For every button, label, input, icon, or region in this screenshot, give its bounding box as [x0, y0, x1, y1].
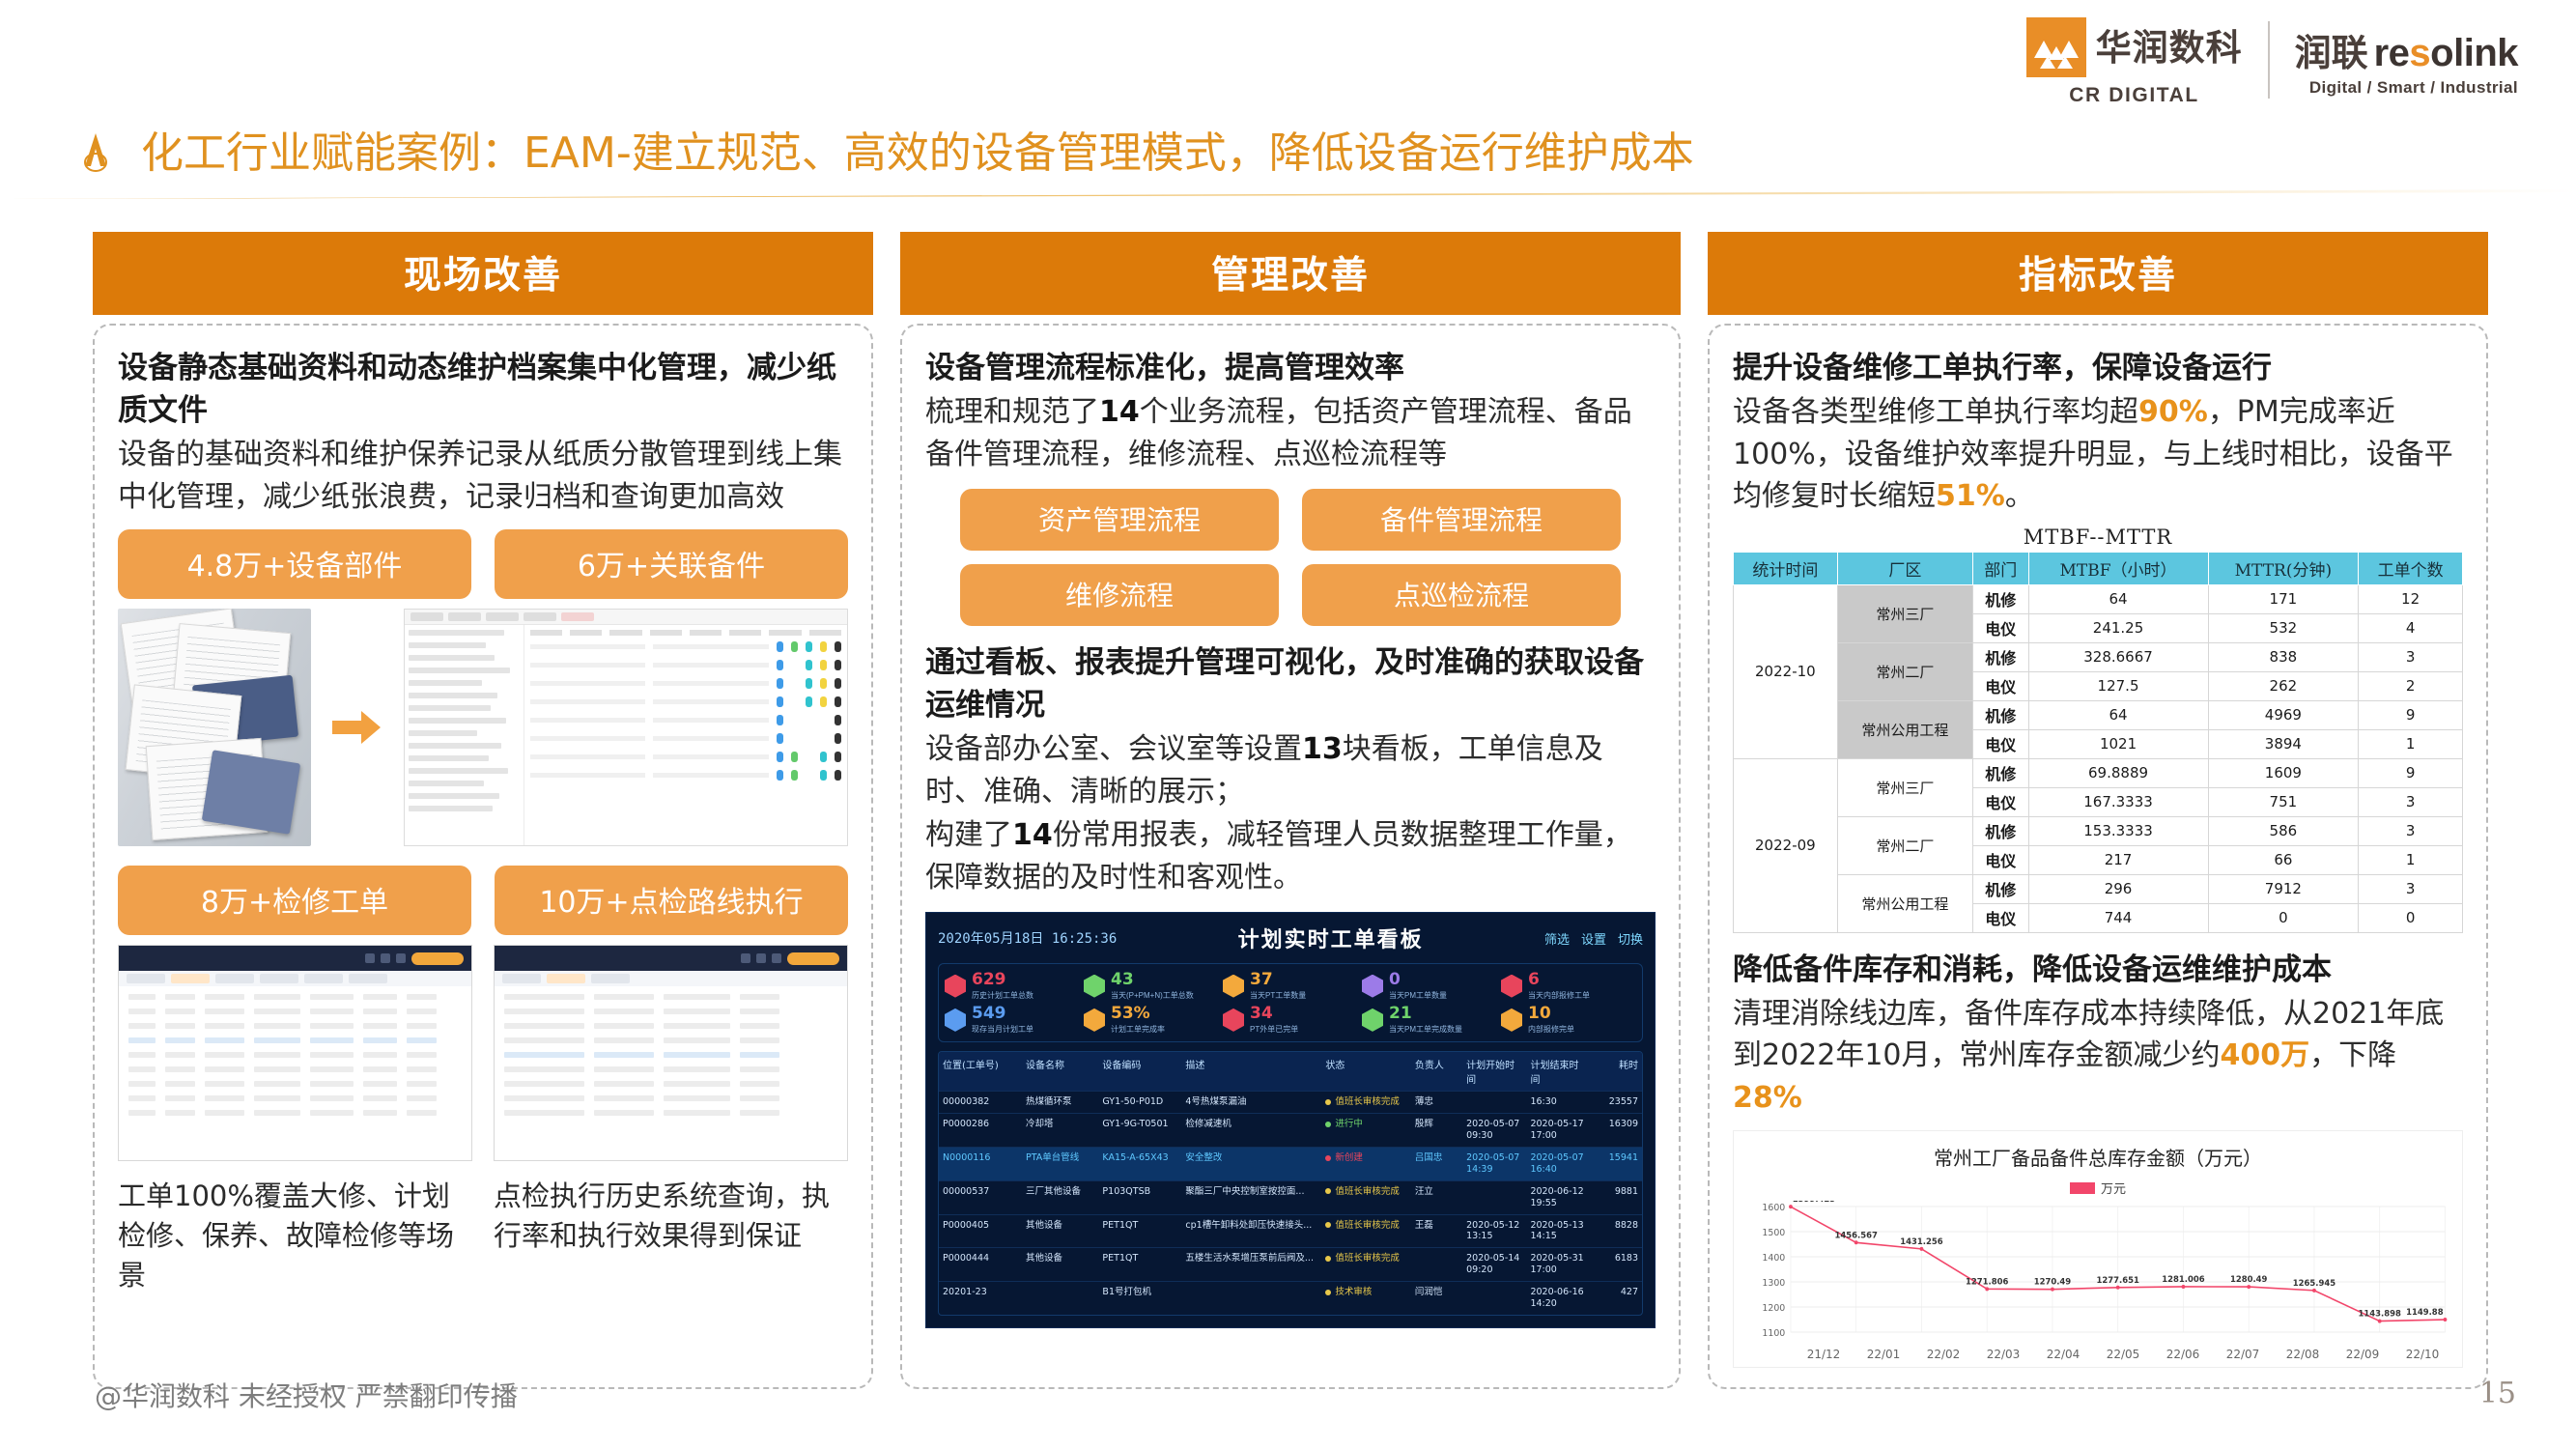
cell-mtbf: 64: [2028, 584, 2208, 613]
badge-related-spares: 6万+关联备件: [495, 529, 848, 599]
cell-mtbf: 241.25: [2028, 613, 2208, 642]
cell-device-code: B1号打包机: [1098, 1282, 1181, 1315]
cell-start-time: [1462, 1181, 1526, 1214]
cell-mtbf: 217: [2028, 845, 2208, 874]
dashboard-datetime: 2020年05月18日 16:25:36: [938, 928, 1117, 948]
dashboard-table-row[interactable]: P0000444其他设备PET1QT五楼生活水泵增压泵前后阀及...值班长审核完…: [939, 1247, 1642, 1281]
svg-text:1271.806: 1271.806: [1966, 1277, 2008, 1287]
cell-device-name: 冷却塔: [1022, 1114, 1098, 1147]
column3-heading2: 降低备件库存和消耗，降低设备运维维护成本: [1733, 949, 2463, 991]
cell-department: 电仪: [1972, 729, 2028, 758]
cell-mttr: 7912: [2208, 874, 2359, 903]
dashboard-topbar: 2020年05月18日 16:25:36 计划实时工单看板 筛选 设置 切换: [938, 923, 1643, 953]
cell-department: 机修: [1972, 758, 2028, 787]
cell-plant: 常州公用工程: [1837, 874, 1972, 932]
cell-department: 机修: [1972, 584, 2028, 613]
status-dot-icon: [1325, 1256, 1331, 1262]
cell-status: 值班长审核完成: [1321, 1181, 1411, 1214]
cell-mttr: 66: [2208, 845, 2359, 874]
svg-text:1281.006: 1281.006: [2162, 1275, 2204, 1285]
column3-body2: 清理消除线边库，备件库存成本持续降低，从2021年底到2022年10月，常州库存…: [1733, 993, 2463, 1120]
status-dot-icon: [1325, 1155, 1331, 1161]
kpi-hex-icon: [1084, 1009, 1105, 1032]
kpi-hex-icon: [1084, 975, 1105, 998]
cell-mttr: 3894: [2208, 729, 2359, 758]
kpi-hex-icon: [1501, 1009, 1522, 1032]
cell-device-code: P103QTSB: [1098, 1181, 1181, 1214]
cell-order-count: 0: [2359, 903, 2463, 932]
cell-description: 五楼生活水泵增压泵前后阀及...: [1181, 1248, 1321, 1281]
cell-order-count: 3: [2359, 787, 2463, 816]
cell-department: 电仪: [1972, 845, 2028, 874]
cell-mtbf: 69.8889: [2028, 758, 2208, 787]
kpi-hex-icon: [1362, 1009, 1383, 1032]
th-mtbf: MTBF（小时）: [2028, 552, 2208, 584]
cell-period: 2022-09: [1734, 758, 1838, 932]
brand-logos: 华润数科 CR DIGITAL 润联 resolink Digital / Sm…: [2026, 17, 2518, 107]
title-underline: [0, 189, 2576, 199]
cell-plant: 常州二厂: [1837, 816, 1972, 874]
red-arrow-indicators: [405, 845, 847, 846]
x-tick-label: 22/09: [2333, 1348, 2392, 1361]
dashboard-workorder-table: 位置(工单号) 设备名称 设备编码 描述 状态 负责人 计划开始时间 计划结束时…: [938, 1051, 1643, 1315]
inspection-list-screenshot: [494, 945, 848, 1161]
svg-text:1277.651: 1277.651: [2097, 1276, 2139, 1286]
dashboard-table-header: 位置(工单号) 设备名称 设备编码 描述 状态 负责人 计划开始时间 计划结束时…: [939, 1052, 1642, 1091]
cell-description: cp1槽午卸料处卸压快速接头...: [1181, 1215, 1321, 1248]
logo-divider: [2268, 21, 2270, 99]
right-arrow-icon: [332, 708, 382, 747]
kpi-tile: 34PT外单已完单: [1223, 1006, 1358, 1034]
cell-department: 电仪: [1972, 787, 2028, 816]
cell-start-time: [1462, 1282, 1526, 1315]
badge-device-parts: 4.8万+设备部件: [118, 529, 471, 599]
cell-end-time: 2020-05-13 14:15: [1526, 1215, 1590, 1248]
mtbf-table-header-row: 统计时间 厂区 部门 MTBF（小时） MTTR(分钟) 工单个数: [1734, 552, 2463, 584]
cell-mttr: 171: [2208, 584, 2359, 613]
kpi-label: 现存当月计划工单: [972, 1025, 1033, 1034]
cell-plant: 常州三厂: [1837, 758, 1972, 816]
x-tick-label: 22/08: [2273, 1348, 2333, 1361]
svg-text:1280.49: 1280.49: [2230, 1275, 2267, 1285]
table-row: 常州二厂机修153.33335863: [1734, 816, 2463, 845]
th-dept: 部门: [1972, 552, 2028, 584]
cell-order-count: 1: [2359, 845, 2463, 874]
table-row: 常州公用工程机修6449699: [1734, 700, 2463, 729]
kpi-label: 当天PT工单数量: [1250, 991, 1306, 1000]
caption-workorder-coverage: 工单100%覆盖大修、计划检修、保养、故障检修等场景: [118, 1177, 472, 1296]
dashboard-table-row[interactable]: P0000286冷却塔GY1-9G-T0501检修减速机进行中殷辉2020-05…: [939, 1113, 1642, 1147]
kpi-value: 21: [1389, 1004, 1412, 1023]
cr-mountain-icon: [2026, 17, 2086, 77]
cell-order-count: 3: [2359, 816, 2463, 845]
dashboard-table-row[interactable]: P0000405其他设备PET1QTcp1槽午卸料处卸压快速接头...值班长审核…: [939, 1214, 1642, 1248]
kpi-label: 当天(P+PM+N)工单总数: [1111, 991, 1194, 1000]
cell-plant: 常州公用工程: [1837, 700, 1972, 758]
cell-owner: [1411, 1248, 1462, 1281]
cell-end-time: 2020-06-12 19:55: [1526, 1181, 1590, 1214]
workorder-list-screenshot: [118, 945, 472, 1161]
cell-description: 聚酯三厂中央控制室按控面...: [1181, 1181, 1321, 1214]
kpi-value: 0: [1389, 970, 1401, 989]
kpi-tile: 629历史计划工单总数: [945, 972, 1080, 1000]
kpi-label: 计划工单完成率: [1111, 1025, 1165, 1034]
th-time: 统计时间: [1734, 552, 1838, 584]
cell-location: P0000405: [939, 1215, 1022, 1248]
process-pills-row2: 维修流程 点巡检流程: [925, 564, 1656, 626]
cell-device-name: 其他设备: [1022, 1215, 1098, 1248]
x-tick-label: 22/02: [1913, 1348, 1973, 1361]
cell-device-code: GY1-50-P01D: [1098, 1092, 1181, 1113]
cell-status: 技术审核: [1321, 1282, 1411, 1315]
cell-order-count: 2: [2359, 671, 2463, 700]
svg-text:1300: 1300: [1762, 1278, 1785, 1289]
mtbf-mttr-table: 统计时间 厂区 部门 MTBF（小时） MTTR(分钟) 工单个数 2022-1…: [1733, 552, 2463, 933]
cr-logo-en: CR DIGITAL: [2069, 84, 2199, 107]
cell-mtbf: 127.5: [2028, 671, 2208, 700]
cell-start-time: 2020-05-07 09:30: [1462, 1114, 1526, 1147]
cell-device-code: KA15-A-65X43: [1098, 1148, 1181, 1180]
column1-body-text: 设备的基础资料和维护保养记录从纸质分散管理到线上集中化管理，减少纸张浪费，记录归…: [118, 434, 848, 518]
kpi-hex-icon: [945, 1009, 966, 1032]
cell-description: 4号热煤泵漏油: [1181, 1092, 1321, 1113]
cell-mtbf: 328.6667: [2028, 642, 2208, 671]
cell-mtbf: 296: [2028, 874, 2208, 903]
table-row: 常州二厂机修328.66678383: [1734, 642, 2463, 671]
cell-order-count: 1: [2359, 729, 2463, 758]
cell-location: 00000382: [939, 1092, 1022, 1113]
cell-device-code: PET1QT: [1098, 1215, 1181, 1248]
cell-owner: 吕国忠: [1411, 1148, 1462, 1180]
x-tick-label: 22/04: [2033, 1348, 2093, 1361]
cell-end-time: 2020-05-17 17:00: [1526, 1114, 1590, 1147]
svg-text:1270.49: 1270.49: [2034, 1277, 2071, 1287]
svg-text:1456.567: 1456.567: [1835, 1231, 1878, 1240]
process-pills-row1: 资产管理流程 备件管理流程: [925, 489, 1656, 551]
column2-body2b: 构建了14份常用报表，减轻管理人员数据整理工作量，保障数据的及时性和客观性。: [925, 814, 1656, 898]
kpi-tile: 43当天(P+PM+N)工单总数: [1084, 972, 1219, 1000]
pill-inspection-process: 点巡检流程: [1302, 564, 1621, 626]
cell-location: 20201-23: [939, 1282, 1022, 1315]
x-tick-label: 22/03: [1973, 1348, 2033, 1361]
column2-heading2: 通过看板、报表提升管理可视化，及时准确的获取设备运维情况: [925, 641, 1656, 726]
cell-order-count: 9: [2359, 700, 2463, 729]
workorder-screenshot-cell: 工单100%覆盖大修、计划检修、保养、故障检修等场景: [118, 945, 472, 1296]
cell-description: 安全整改: [1181, 1148, 1321, 1180]
cell-start-time: 2020-05-12 13:15: [1462, 1215, 1526, 1248]
cell-duration: 16309: [1591, 1114, 1642, 1147]
kpi-tile: 21当天PM工单完成数量: [1362, 1006, 1497, 1034]
x-tick-label: 22/01: [1854, 1348, 1913, 1361]
cell-duration: 23557: [1591, 1092, 1642, 1113]
cell-device-name: PTA单台管线: [1022, 1148, 1098, 1180]
eam-asset-screenshot: [404, 609, 848, 846]
badge-maintenance-orders: 8万+检修工单: [118, 866, 471, 935]
cell-device-name: 其他设备: [1022, 1248, 1098, 1281]
paper-documents-photo: [118, 609, 311, 846]
chart-legend: 万元: [1743, 1179, 2452, 1197]
cell-order-count: 3: [2359, 642, 2463, 671]
cell-duration: 9881: [1591, 1181, 1642, 1214]
cell-location: P0000444: [939, 1248, 1022, 1281]
kpi-value: 10: [1528, 1004, 1551, 1023]
svg-text:1500: 1500: [1762, 1228, 1785, 1238]
svg-text:1599.425: 1599.425: [1793, 1201, 1835, 1205]
dashboard-table-row[interactable]: N0000116PTA单台管线KA15-A-65X43安全整改新创建吕国忠202…: [939, 1147, 1642, 1180]
cell-status: 值班长审核完成: [1321, 1248, 1411, 1281]
kpi-value: 6: [1528, 970, 1540, 989]
x-tick-label: 22/07: [2213, 1348, 2273, 1361]
column3-body: 提升设备维修工单执行率，保障设备运行 设备各类型维修工单执行率均超90%，PM完…: [1708, 324, 2488, 1389]
transform-arrow-cell: [328, 609, 386, 846]
column1-badges-top: 4.8万+设备部件 6万+关联备件: [118, 529, 848, 599]
kpi-label: 历史计划工单总数: [972, 991, 1033, 1000]
cell-mttr: 0: [2208, 903, 2359, 932]
kpi-tile: 6当天内部报修工单: [1501, 972, 1636, 1000]
cell-plant: 常州二厂: [1837, 642, 1972, 700]
cell-duration: 427: [1591, 1282, 1642, 1315]
svg-text:1431.256: 1431.256: [1900, 1237, 1942, 1247]
cell-mtbf: 64: [2028, 700, 2208, 729]
dashboard-table-row[interactable]: 20201-23B1号打包机技术审核闫润恺2020-06-16 14:20427: [939, 1281, 1642, 1315]
cell-description: [1181, 1282, 1321, 1315]
column1-heading: 设备静态基础资料和动态维护档案集中化管理，减少纸质文件: [118, 347, 848, 432]
kpi-tile: 37当天PT工单数量: [1223, 972, 1358, 1000]
column-management-improvement: 管理改善 设备管理流程标准化，提高管理效率 梳理和规范了14个业务流程，包括资产…: [900, 232, 1681, 1389]
kpi-value: 629: [972, 970, 1006, 989]
page-number: 15: [2479, 1377, 2516, 1410]
kpi-hex-icon: [1362, 975, 1383, 998]
cell-department: 电仪: [1972, 903, 2028, 932]
th-count: 工单个数: [2359, 552, 2463, 584]
cell-status: 值班长审核完成: [1321, 1092, 1411, 1113]
cell-end-time: 2020-06-16 14:20: [1526, 1282, 1590, 1315]
cell-mtbf: 744: [2028, 903, 2208, 932]
legend-swatch: [2070, 1182, 2095, 1194]
kpi-label: 当天PM工单完成数量: [1389, 1025, 1462, 1034]
svg-text:1400: 1400: [1762, 1253, 1785, 1264]
cell-location: N0000116: [939, 1148, 1022, 1180]
kpi-tile: 549现存当月计划工单: [945, 1006, 1080, 1034]
column3-heading: 提升设备维修工单执行率，保障设备运行: [1733, 347, 2463, 389]
pill-asset-process: 资产管理流程: [960, 489, 1279, 551]
status-dot-icon: [1325, 1122, 1331, 1127]
dashboard-title: 计划实时工单看板: [1238, 923, 1424, 953]
cell-mtbf: 153.3333: [2028, 816, 2208, 845]
resolink-tagline: Digital / Smart / Industrial: [2295, 78, 2518, 98]
column1-header: 现场改善: [93, 232, 873, 315]
x-tick-label: 22/06: [2153, 1348, 2213, 1361]
column1-media-bottom: 工单100%覆盖大修、计划检修、保养、故障检修等场景: [118, 945, 848, 1296]
resolink-logo: 润联 resolink Digital / Smart / Industrial: [2295, 17, 2518, 98]
column2-body: 设备管理流程标准化，提高管理效率 梳理和规范了14个业务流程，包括资产管理流程、…: [900, 324, 1681, 1389]
cell-department: 电仪: [1972, 613, 2028, 642]
status-dot-icon: [1325, 1222, 1331, 1228]
svg-text:1143.898: 1143.898: [2359, 1309, 2401, 1319]
paper-photo-cell: [118, 609, 311, 846]
cell-mtbf: 167.3333: [2028, 787, 2208, 816]
cell-start-time: 2020-05-14 09:20: [1462, 1248, 1526, 1281]
cell-plant: 常州三厂: [1837, 584, 1972, 642]
column2-body2a: 设备部办公室、会议室等设置13块看板，工单信息及时、准确、清晰的展示；: [925, 728, 1656, 812]
svg-text:1265.945: 1265.945: [2293, 1279, 2335, 1289]
kpi-tile: 53%计划工单完成率: [1084, 1006, 1219, 1034]
kpi-value: 34: [1250, 1004, 1273, 1023]
status-dot-icon: [1325, 1188, 1331, 1194]
cell-start-time: [1462, 1092, 1526, 1113]
mtbf-table-caption: MTBF--MTTR: [1733, 526, 2463, 549]
chart-title: 常州工厂备品备件总库存金额（万元）: [1743, 1143, 2452, 1171]
cell-owner: 汪立: [1411, 1181, 1462, 1214]
cell-device-name: [1022, 1282, 1098, 1315]
copyright-footer: @华润数科 未经授权 严禁翻印传播: [95, 1376, 518, 1414]
cell-owner: 王磊: [1411, 1215, 1462, 1248]
cell-order-count: 12: [2359, 584, 2463, 613]
slide-root: 华润数科 CR DIGITAL 润联 resolink Digital / Sm…: [0, 0, 2576, 1449]
kpi-value: 43: [1111, 970, 1134, 989]
cell-device-name: 三厂其他设备: [1022, 1181, 1098, 1214]
kpi-label: 内部报修完单: [1528, 1025, 1574, 1034]
mountain-bullet-icon: [75, 124, 120, 174]
column2-body-text: 梳理和规范了14个业务流程，包括资产管理流程、备品备件管理流程，维修流程、点巡检…: [925, 391, 1656, 475]
cell-department: 机修: [1972, 700, 2028, 729]
kpi-hex-icon: [1223, 1009, 1244, 1032]
cell-description: 检修减速机: [1181, 1114, 1321, 1147]
dashboard-table-row[interactable]: 00000537三厂其他设备P103QTSB聚酯三厂中央控制室按控面...值班长…: [939, 1180, 1642, 1214]
cell-mttr: 1609: [2208, 758, 2359, 787]
cell-end-time: 2020-05-31 17:00: [1526, 1248, 1590, 1281]
status-dot-icon: [1325, 1099, 1331, 1105]
chart-x-axis: 21/1222/0122/0222/0322/0422/0522/0622/07…: [1743, 1348, 2452, 1361]
cell-mttr: 532: [2208, 613, 2359, 642]
cell-device-code: PET1QT: [1098, 1248, 1181, 1281]
cell-owner: 闫润恺: [1411, 1282, 1462, 1315]
cell-end-time: 2020-05-07 16:40: [1526, 1148, 1590, 1180]
column2-header: 管理改善: [900, 232, 1681, 315]
table-row: 2022-09常州三厂机修69.888916099: [1734, 758, 2463, 787]
cell-order-count: 9: [2359, 758, 2463, 787]
cell-mttr: 586: [2208, 816, 2359, 845]
page-title: 化工行业赋能案例：EAM-建立规范、高效的设备管理模式，降低设备运行维护成本: [141, 118, 1694, 180]
kpi-label: 当天PM工单数量: [1389, 991, 1447, 1000]
column3-body-text: 设备各类型维修工单执行率均超90%，PM完成率近100%，设备维护效率提升明显，…: [1733, 391, 2463, 518]
page-title-row: 化工行业赋能案例：EAM-建立规范、高效的设备管理模式，降低设备运行维护成本: [75, 118, 2537, 180]
kpi-hex-icon: [945, 975, 966, 998]
x-tick-label: 22/10: [2392, 1348, 2452, 1361]
column-kpi-improvement: 指标改善 提升设备维修工单执行率，保障设备运行 设备各类型维修工单执行率均超90…: [1708, 232, 2488, 1389]
cell-device-code: GY1-9G-T0501: [1098, 1114, 1181, 1147]
cell-mttr: 838: [2208, 642, 2359, 671]
cell-status: 值班长审核完成: [1321, 1215, 1411, 1248]
cell-department: 机修: [1972, 874, 2028, 903]
realtime-workorder-dashboard: 2020年05月18日 16:25:36 计划实时工单看板 筛选 设置 切换 6…: [925, 912, 1656, 1328]
svg-text:1600: 1600: [1762, 1203, 1785, 1213]
column1-media-top: [118, 609, 848, 846]
chart-plot-area: 1100120013001400150016001599.4251456.567…: [1743, 1201, 2452, 1346]
kpi-value: 37: [1250, 970, 1273, 989]
inspection-screenshot-cell: 点检执行历史系统查询，执行率和执行效果得到保证: [494, 945, 848, 1296]
cell-device-name: 热煤循环泵: [1022, 1092, 1098, 1113]
kpi-tile: 0当天PM工单数量: [1362, 972, 1497, 1000]
column2-heading: 设备管理流程标准化，提高管理效率: [925, 347, 1656, 389]
kpi-hex-icon: [1223, 975, 1244, 998]
x-tick-label: 22/05: [2093, 1348, 2153, 1361]
column1-body: 设备静态基础资料和动态维护档案集中化管理，减少纸质文件 设备的基础资料和维护保养…: [93, 324, 873, 1389]
x-tick-label: 21/12: [1794, 1348, 1854, 1361]
table-row: 常州公用工程机修29679123: [1734, 874, 2463, 903]
three-column-layout: 现场改善 设备静态基础资料和动态维护档案集中化管理，减少纸质文件 设备的基础资料…: [93, 232, 2488, 1389]
th-mttr: MTTR(分钟): [2208, 552, 2359, 584]
cell-mttr: 751: [2208, 787, 2359, 816]
table-row: 2022-10常州三厂机修6417112: [1734, 584, 2463, 613]
cell-start-time: 2020-05-07 14:39: [1462, 1148, 1526, 1180]
caption-inspection-history: 点检执行历史系统查询，执行率和执行效果得到保证: [494, 1177, 848, 1256]
cell-department: 机修: [1972, 816, 2028, 845]
dashboard-table-row[interactable]: 00000382热煤循环泵GY1-50-P01D4号热煤泵漏油值班长审核完成薄忠…: [939, 1091, 1642, 1113]
badge-inspection-routes: 10万+点检路线执行: [495, 866, 848, 935]
inventory-chart: 常州工厂备品备件总库存金额（万元） 万元 1100120013001400150…: [1733, 1130, 2463, 1368]
cell-location: 00000537: [939, 1181, 1022, 1214]
dashboard-kpi-grid: 629历史计划工单总数43当天(P+PM+N)工单总数37当天PT工单数量0当天…: [938, 963, 1643, 1042]
cell-location: P0000286: [939, 1114, 1022, 1147]
legend-label: 万元: [2101, 1179, 2126, 1197]
cell-period: 2022-10: [1734, 584, 1838, 758]
kpi-value: 549: [972, 1004, 1006, 1023]
dashboard-settings-button[interactable]: 设置: [1581, 929, 1606, 948]
cell-duration: 6183: [1591, 1248, 1642, 1281]
pill-repair-process: 维修流程: [960, 564, 1279, 626]
svg-text:1149.88: 1149.88: [2406, 1308, 2443, 1318]
cr-digital-logo: 华润数科 CR DIGITAL: [2026, 17, 2243, 107]
cell-status: 新创建: [1321, 1148, 1411, 1180]
resolink-logo-cn: 润联: [2295, 23, 2368, 76]
kpi-tile: 10内部报修完单: [1501, 1006, 1636, 1034]
cell-duration: 15941: [1591, 1148, 1642, 1180]
cell-end-time: 16:30: [1526, 1092, 1590, 1113]
resolink-logo-en: resolink: [2374, 32, 2518, 75]
svg-text:1100: 1100: [1762, 1328, 1785, 1339]
dashboard-tools: 筛选 设置 切换: [1544, 929, 1643, 948]
dashboard-switch-button[interactable]: 切换: [1618, 929, 1643, 948]
cr-logo-cn: 华润数科: [2096, 30, 2243, 66]
pill-spare-process: 备件管理流程: [1302, 489, 1621, 551]
kpi-label: 当天内部报修工单: [1528, 991, 1590, 1000]
eam-screenshot-cell: [404, 609, 848, 846]
cell-mtbf: 1021: [2028, 729, 2208, 758]
column1-badges-bottom: 8万+检修工单 10万+点检路线执行: [118, 866, 848, 935]
cell-order-count: 4: [2359, 613, 2463, 642]
column-site-improvement: 现场改善 设备静态基础资料和动态维护档案集中化管理，减少纸质文件 设备的基础资料…: [93, 232, 873, 1389]
status-dot-icon: [1325, 1290, 1331, 1295]
cell-order-count: 3: [2359, 874, 2463, 903]
dashboard-filter-button[interactable]: 筛选: [1544, 929, 1570, 948]
cell-department: 机修: [1972, 642, 2028, 671]
cell-status: 进行中: [1321, 1114, 1411, 1147]
svg-text:1200: 1200: [1762, 1303, 1785, 1314]
kpi-hex-icon: [1501, 975, 1522, 998]
cell-duration: 8828: [1591, 1215, 1642, 1248]
kpi-value: 53%: [1111, 1004, 1150, 1023]
cell-mttr: 262: [2208, 671, 2359, 700]
cell-mttr: 4969: [2208, 700, 2359, 729]
cell-owner: 薄忠: [1411, 1092, 1462, 1113]
kpi-label: PT外单已完单: [1250, 1025, 1298, 1034]
th-plant: 厂区: [1837, 552, 1972, 584]
cell-owner: 殷辉: [1411, 1114, 1462, 1147]
cell-department: 电仪: [1972, 671, 2028, 700]
column3-header: 指标改善: [1708, 232, 2488, 315]
